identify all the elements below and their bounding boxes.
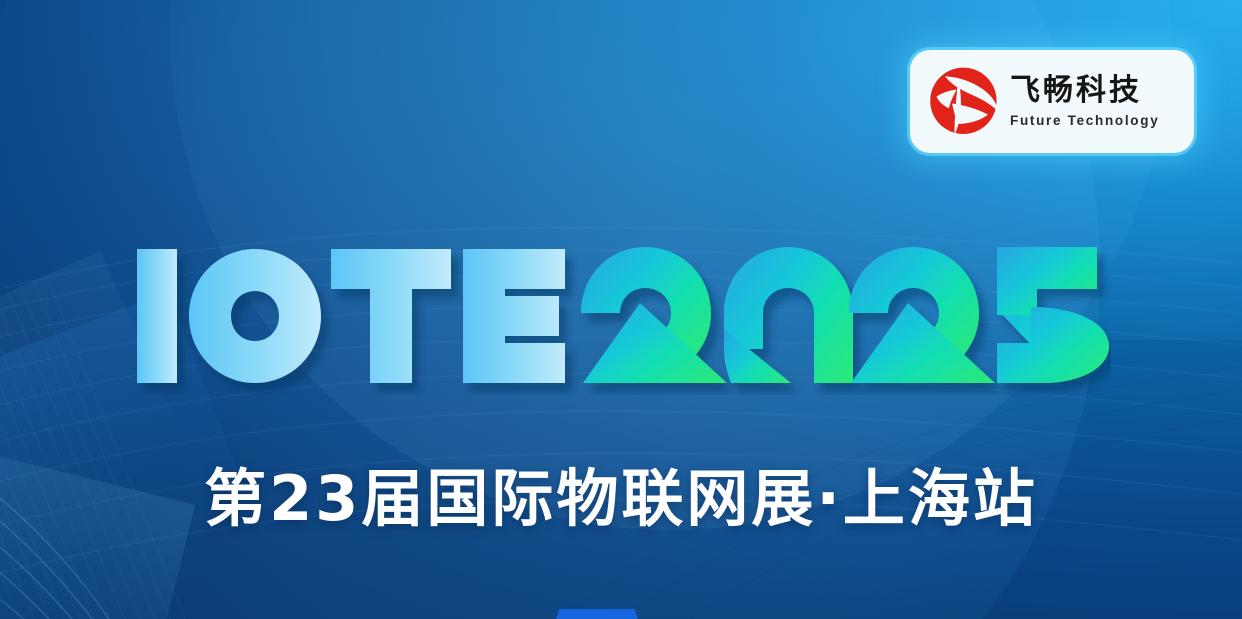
event-subtitle-cn: 第23届国际物联网展·上海站 [0,448,1242,538]
iote-wordmark [137,249,565,383]
company-logo-badge[interactable]: 飞畅科技 Future Technology [910,50,1194,153]
year-2025-wordmark [581,247,1109,383]
company-logo-text: 飞畅科技 Future Technology [1010,75,1159,128]
feichang-logo-mark-icon [924,63,1002,141]
iote-2025-event-banner: 飞畅科技 Future Technology [0,0,1242,619]
iote-2025-logotype-svg [131,243,1111,395]
company-name-cn: 飞畅科技 [1010,75,1159,107]
iote-2025-logotype [0,243,1242,395]
company-name-en: Future Technology [1010,113,1159,128]
bottom-accent-tab [556,609,638,619]
